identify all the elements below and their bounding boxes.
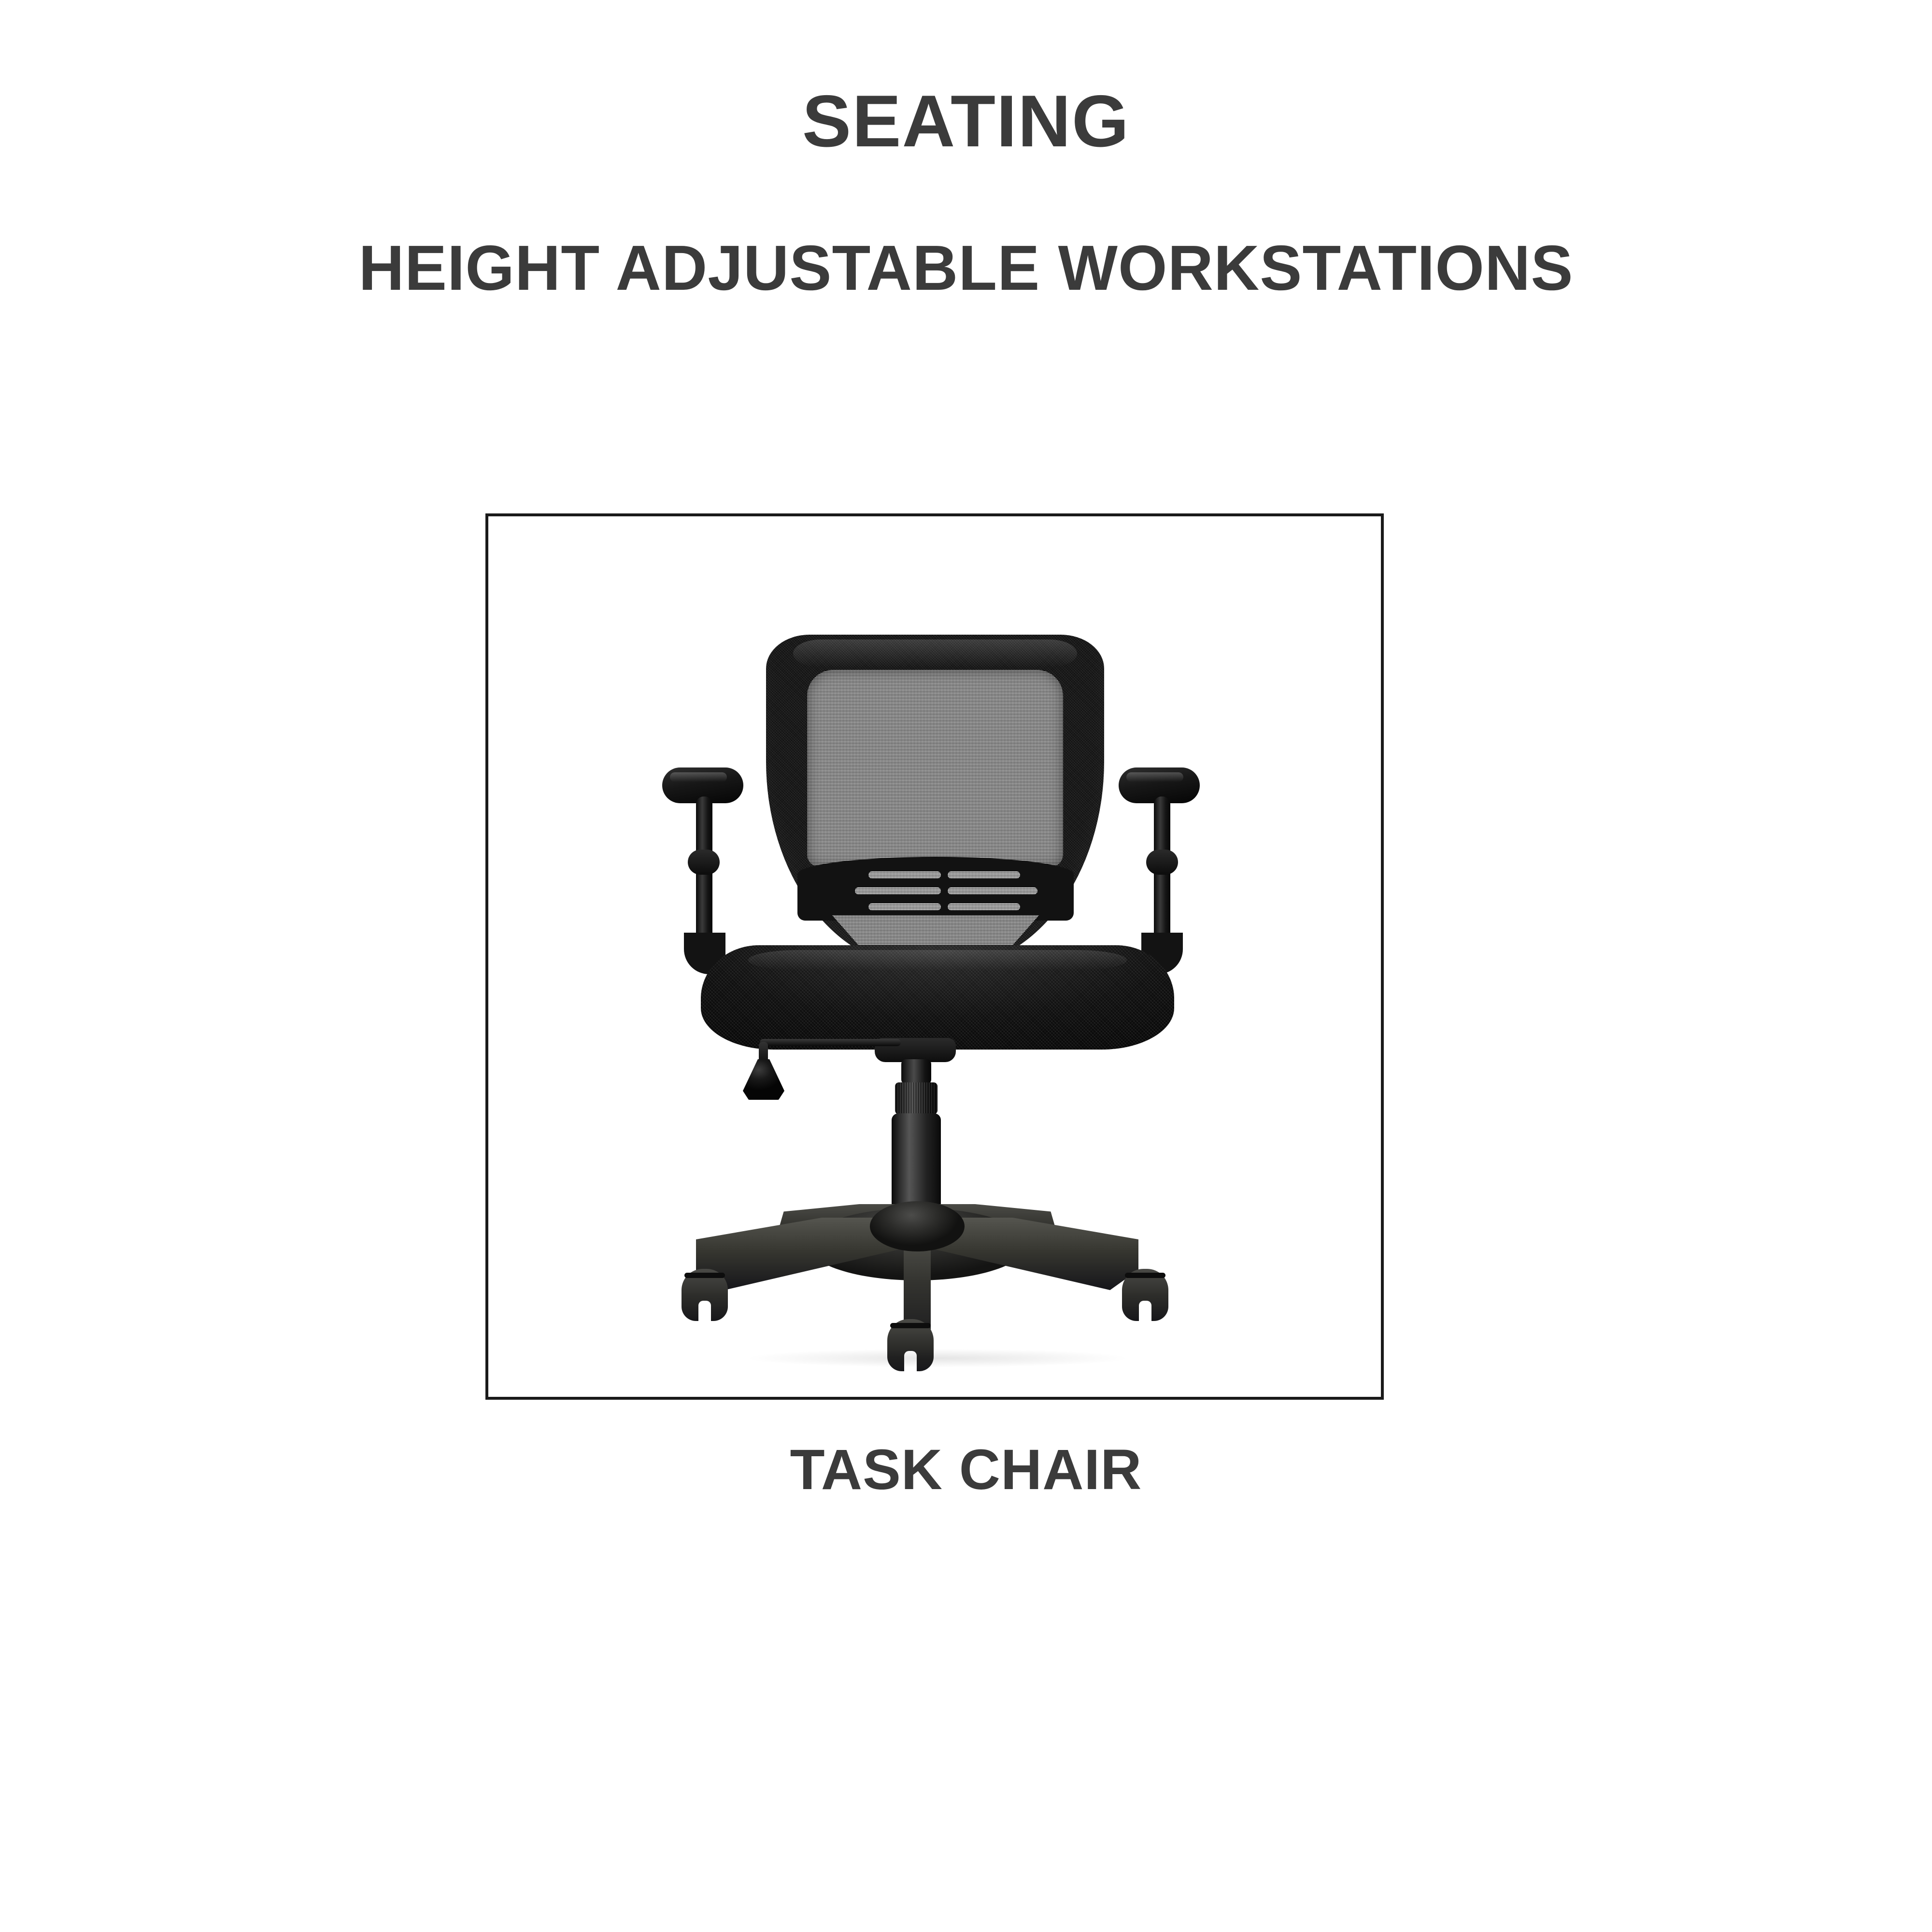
caster (1122, 1269, 1168, 1321)
height-lever-knob (743, 1059, 784, 1100)
gas-cylinder-top (901, 1059, 931, 1084)
catalog-page: SEATING HEIGHT ADJUSTABLE WORKSTATIONS (0, 0, 1932, 1932)
lumbar-slot (868, 871, 941, 879)
gas-cylinder-shroud (892, 1113, 941, 1216)
task-chair-illustration (488, 516, 1381, 1397)
height-lever-rod (760, 1039, 901, 1046)
floor-shadow (672, 1345, 1203, 1371)
lumbar-slot (948, 887, 1037, 895)
lumbar-slot (948, 871, 1020, 879)
base-hub (870, 1201, 965, 1251)
armrest-adjust-knob-right (1146, 850, 1178, 875)
page-subtitle: HEIGHT ADJUSTABLE WORKSTATIONS (10, 233, 1922, 303)
seat-cushion (701, 945, 1174, 1050)
product-photo (488, 516, 1381, 1397)
lumbar-slot (868, 903, 941, 910)
gas-cylinder-sleeve (895, 1082, 938, 1114)
page-title: SEATING (0, 79, 1932, 164)
lumbar-slot (948, 903, 1020, 910)
caster (682, 1269, 728, 1321)
armrest-adjust-knob-left (688, 850, 720, 875)
product-image-frame (485, 513, 1384, 1400)
product-caption: TASK CHAIR (0, 1437, 1932, 1503)
lumbar-slot (855, 887, 941, 895)
base-leg-front-left (696, 1218, 899, 1290)
upper-mesh-panel (807, 670, 1063, 867)
base-leg-front-right (936, 1218, 1138, 1290)
